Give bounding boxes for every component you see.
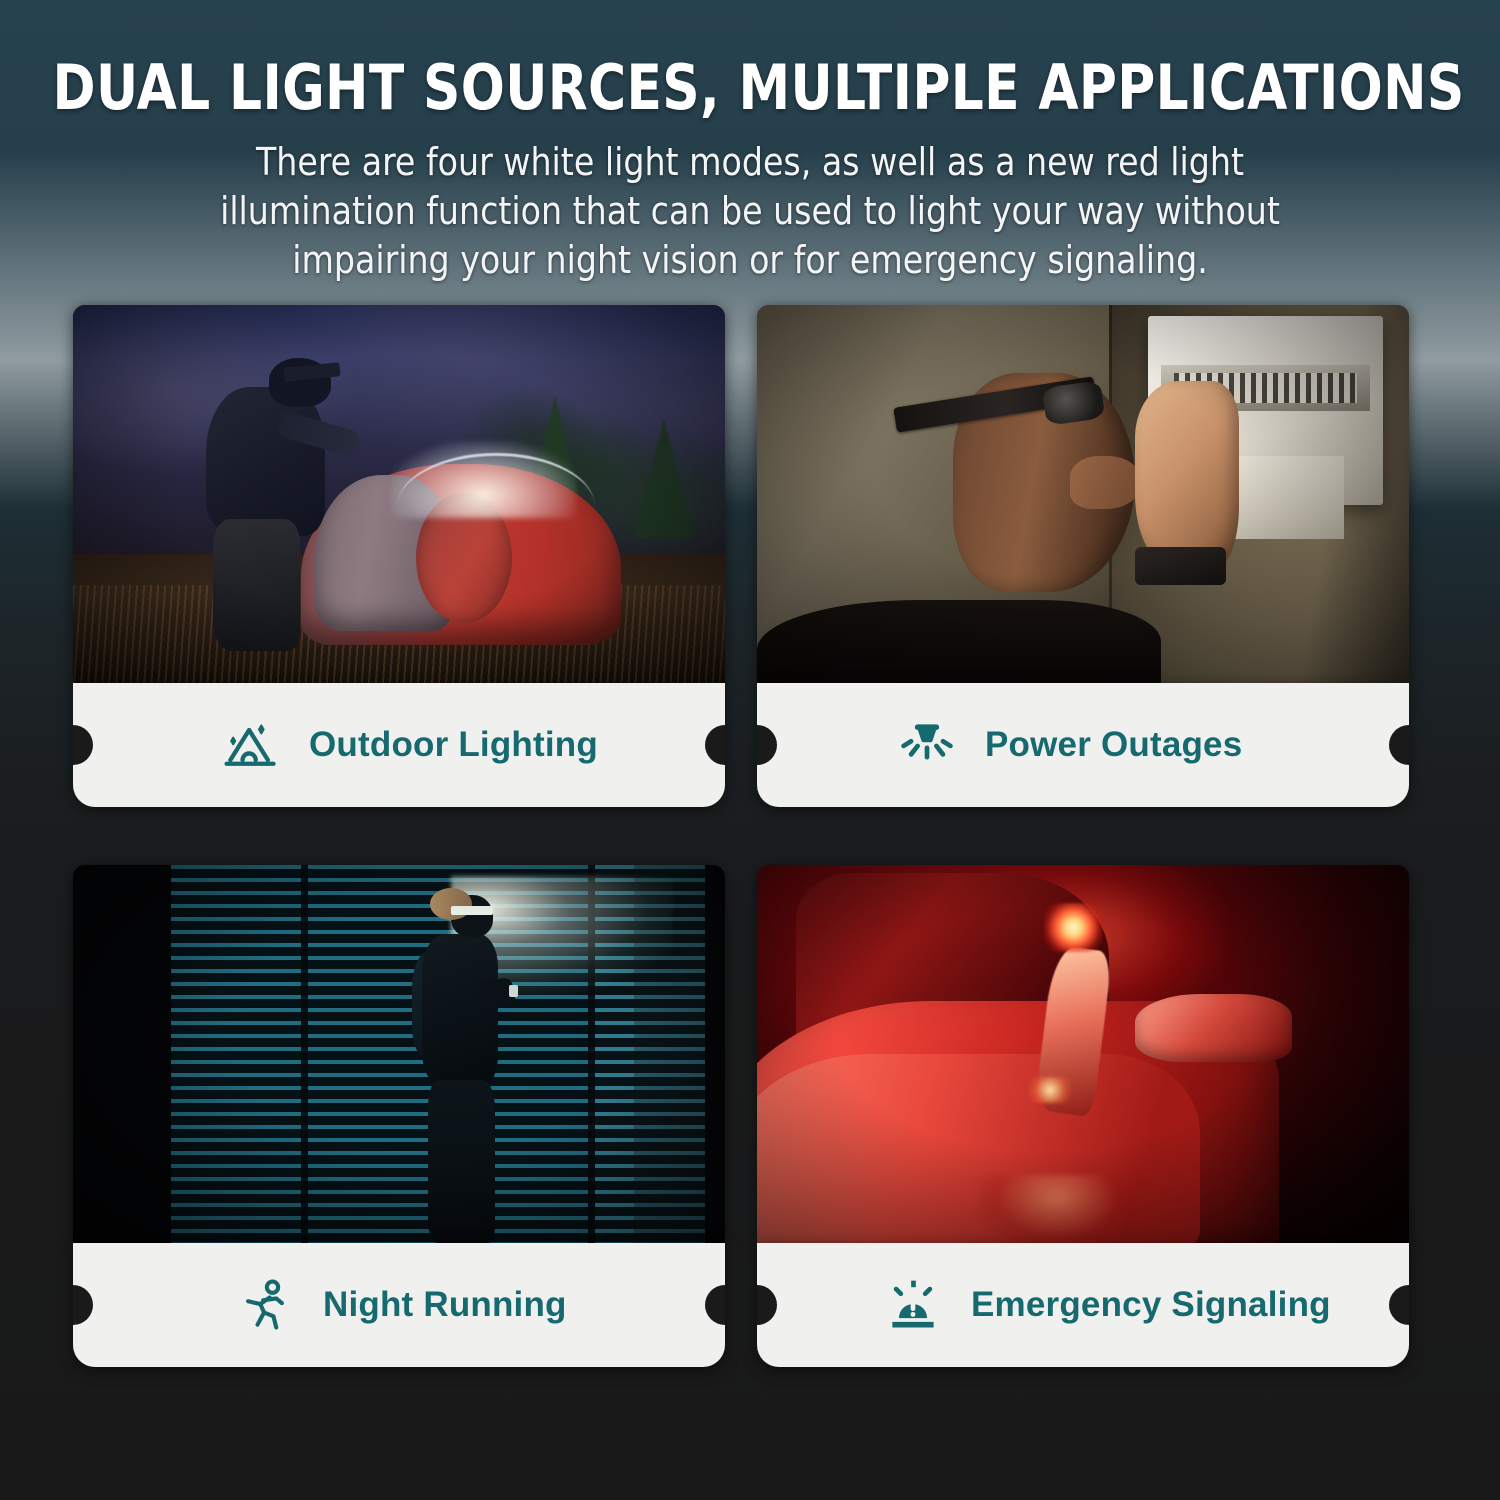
card-label-text: Power Outages [985, 725, 1242, 765]
card-photo-emergency-signaling [757, 865, 1409, 1243]
card-label-strip-outdoor-lighting: Outdoor Lighting [73, 683, 725, 807]
product-feature-panel: DUAL LIGHT SOURCES, MULTIPLE APPLICATION… [0, 0, 1500, 1500]
header: DUAL LIGHT SOURCES, MULTIPLE APPLICATION… [0, 0, 1500, 285]
ticket-notch-right [705, 725, 725, 765]
application-card-night-running[interactable]: Night Running [73, 865, 725, 1367]
ticket-notch-right [705, 1285, 725, 1325]
running-person-icon [235, 1275, 295, 1335]
card-label-text: Night Running [323, 1285, 567, 1325]
card-label-text: Emergency Signaling [971, 1285, 1331, 1325]
siren-alert-icon [883, 1275, 943, 1335]
ticket-notch-right [1389, 1285, 1409, 1325]
application-card-emergency-signaling[interactable]: Emergency Signaling [757, 865, 1409, 1367]
card-photo-night-running [73, 865, 725, 1243]
application-card-power-outages[interactable]: Power Outages [757, 305, 1409, 807]
ticket-notch-right [1389, 725, 1409, 765]
card-label-text: Outdoor Lighting [309, 725, 598, 765]
card-label-strip-emergency-signaling: Emergency Signaling [757, 1243, 1409, 1367]
card-photo-power-outages [757, 305, 1409, 683]
card-label-strip-night-running: Night Running [73, 1243, 725, 1367]
card-label-strip-power-outages: Power Outages [757, 683, 1409, 807]
tent-icon [221, 715, 281, 775]
page-subtitle: There are four white light modes, as wel… [184, 138, 1317, 285]
application-card-outdoor-lighting[interactable]: Outdoor Lighting [73, 305, 725, 807]
page-title: DUAL LIGHT SOURCES, MULTIPLE APPLICATION… [53, 55, 1448, 120]
card-photo-outdoor-lighting [73, 305, 725, 683]
application-card-grid: Outdoor Lighting [0, 305, 1500, 1425]
ceiling-lamp-icon [897, 715, 957, 775]
